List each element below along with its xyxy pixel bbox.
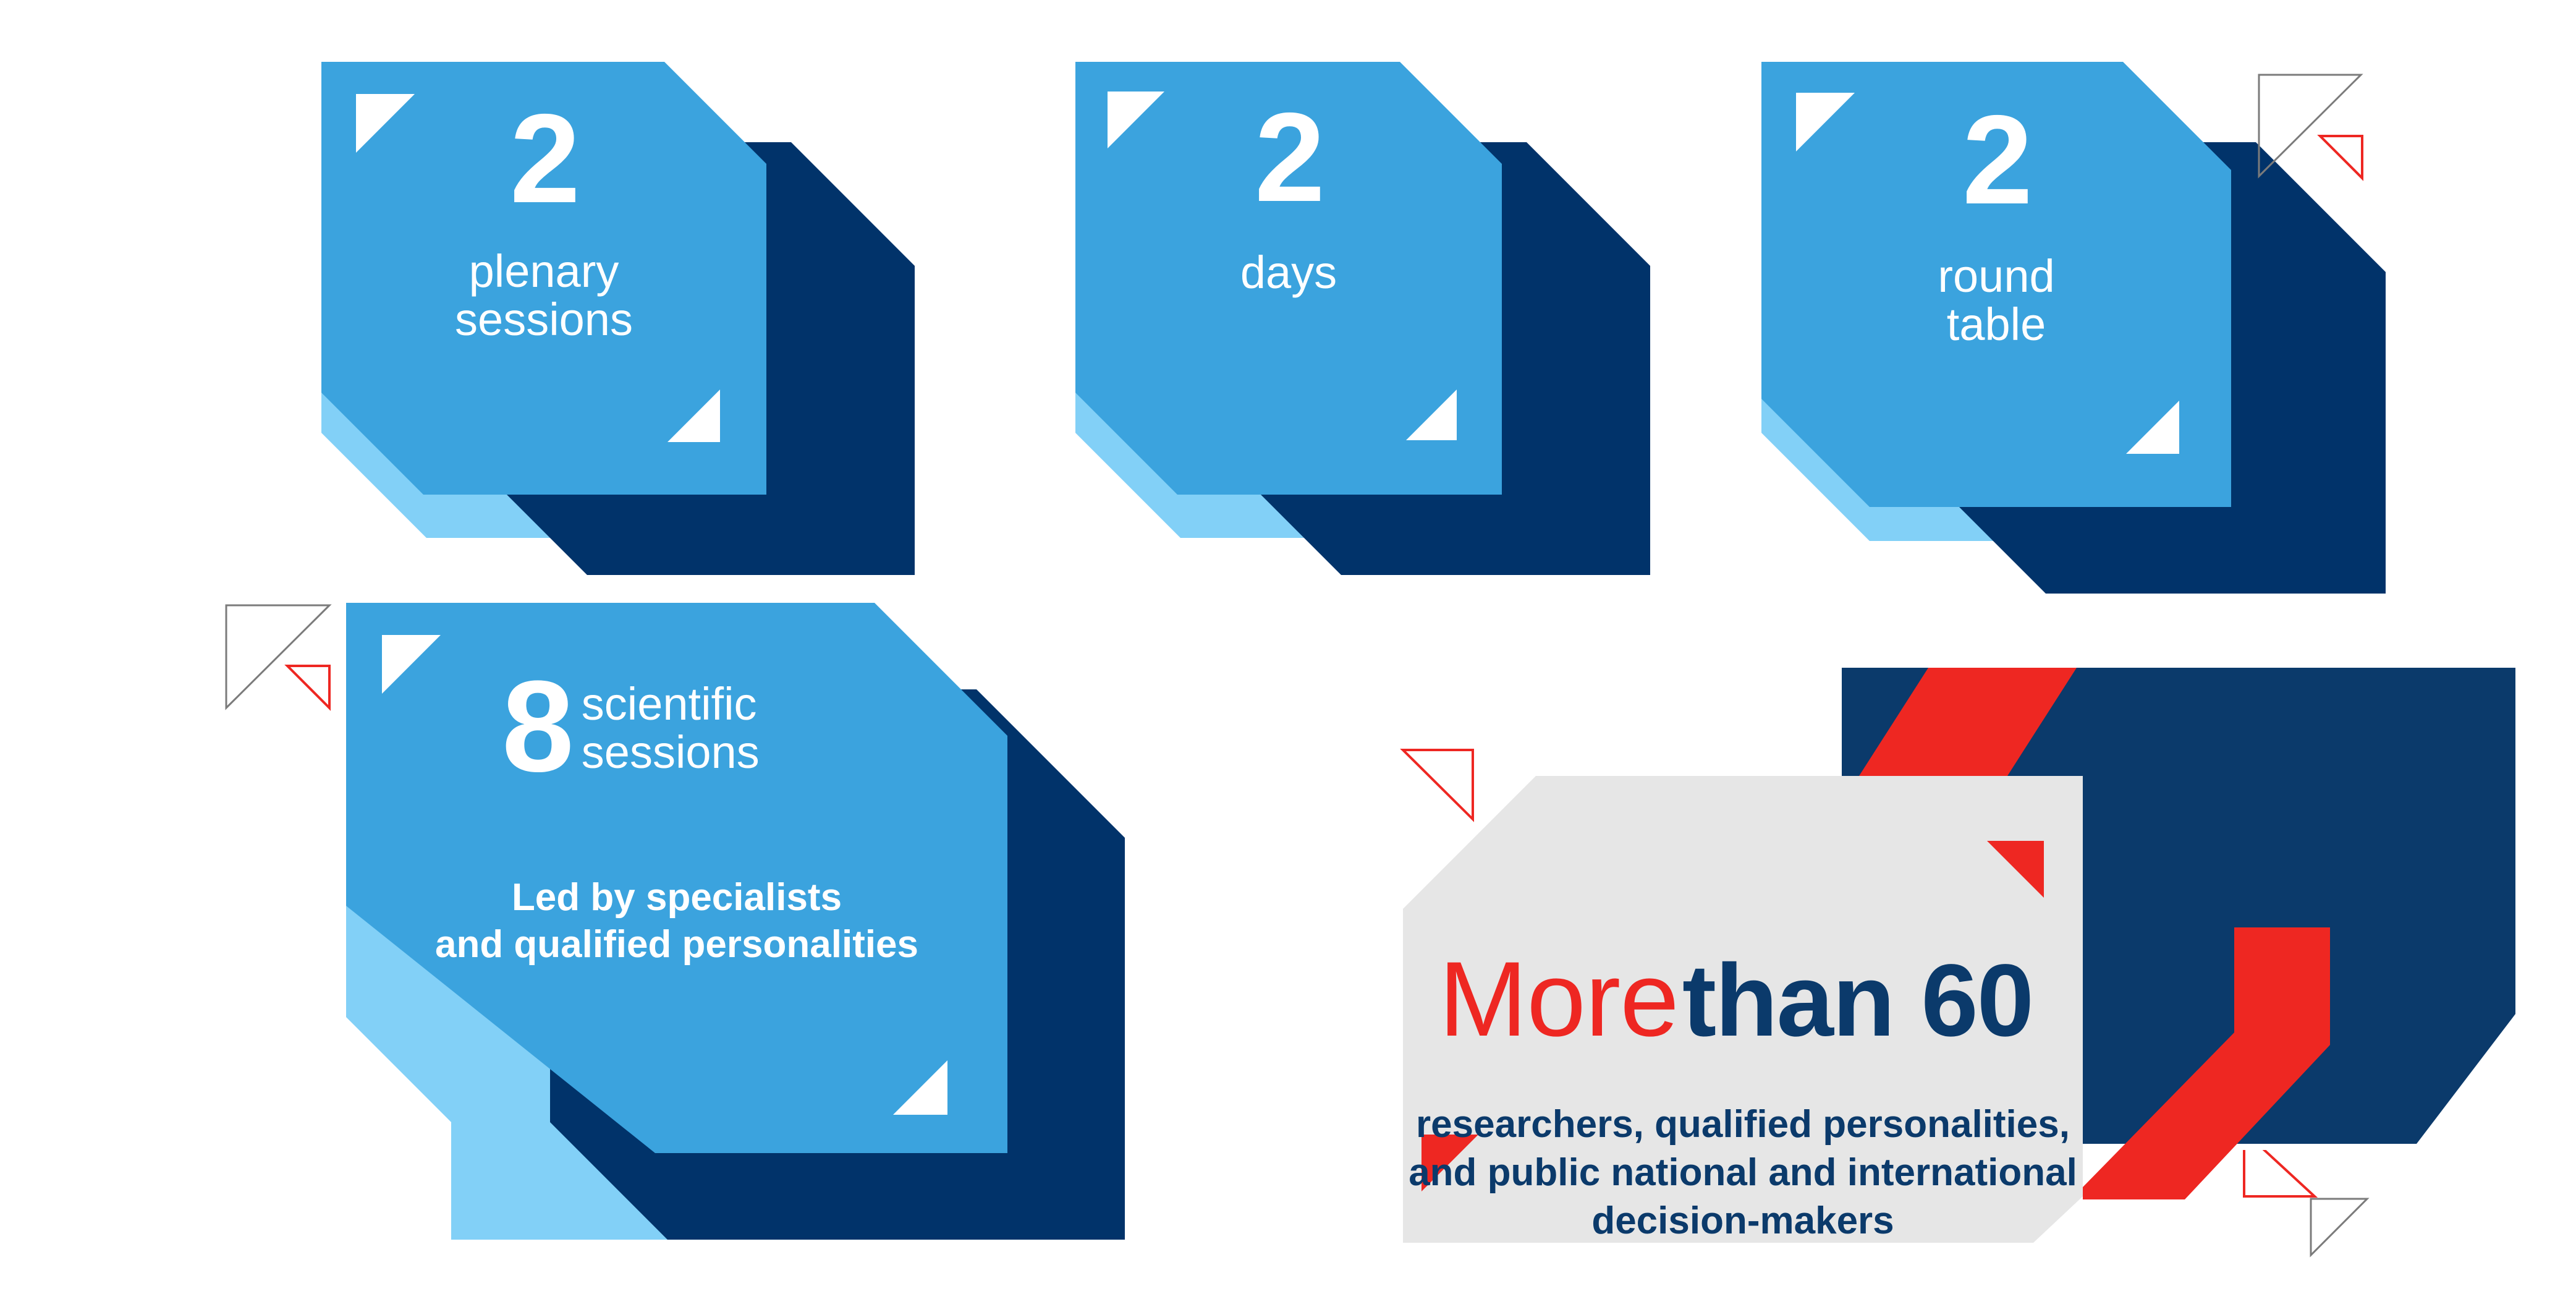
scientific-sessions-body-line2: and qualified personalities xyxy=(346,922,1007,968)
deco-m60-left xyxy=(1391,733,1502,832)
m60-title-main: than 60 xyxy=(1682,950,2033,1052)
red-outline-triangle-icon xyxy=(2320,136,2362,178)
scientific-sessions-heading: 8 scientific sessions xyxy=(502,670,760,784)
red-outline-triangle-icon xyxy=(287,666,329,708)
red-outline-triangle-icon xyxy=(1403,750,1473,819)
m60-title-accent: More xyxy=(1439,946,1679,1052)
stat-label-line2: sessions xyxy=(582,728,760,777)
stat-label-line1: scientific xyxy=(582,680,760,728)
deco-top-right xyxy=(2243,59,2404,182)
m60-body-line3: decision-makers xyxy=(1403,1197,2083,1245)
deco-triangles-svg xyxy=(195,590,337,714)
stat-card-plenary-sessions: 2 plenary sessions xyxy=(321,62,915,556)
m60-body-line2: and public national and international xyxy=(1403,1149,2083,1197)
stat-card-days: 2 days xyxy=(1075,62,1644,556)
infographic-canvas: 2 plenary sessions 2 days 2 round table xyxy=(0,0,2576,1296)
deco-triangles-svg xyxy=(1391,733,1502,832)
stat-label: scientific sessions xyxy=(582,680,760,777)
deco-left-middle xyxy=(195,590,337,714)
stat-card-scientific-sessions: 8 scientific sessions Led by specialists… xyxy=(346,603,1125,1240)
deco-triangles-svg xyxy=(2243,59,2404,182)
red-outline-triangle-icon xyxy=(2244,1150,2315,1196)
m60-title: More than 60 xyxy=(1439,946,2033,1052)
m60-body-line1: researchers, qualified personalities, xyxy=(1403,1101,2083,1149)
deco-triangles-svg xyxy=(2234,1150,2413,1296)
grey-outline-triangle-icon xyxy=(2311,1199,2367,1255)
deco-bottom-right xyxy=(2234,1150,2413,1296)
stat-number: 8 xyxy=(502,670,572,784)
scientific-sessions-body-line1: Led by specialists xyxy=(346,875,1007,921)
